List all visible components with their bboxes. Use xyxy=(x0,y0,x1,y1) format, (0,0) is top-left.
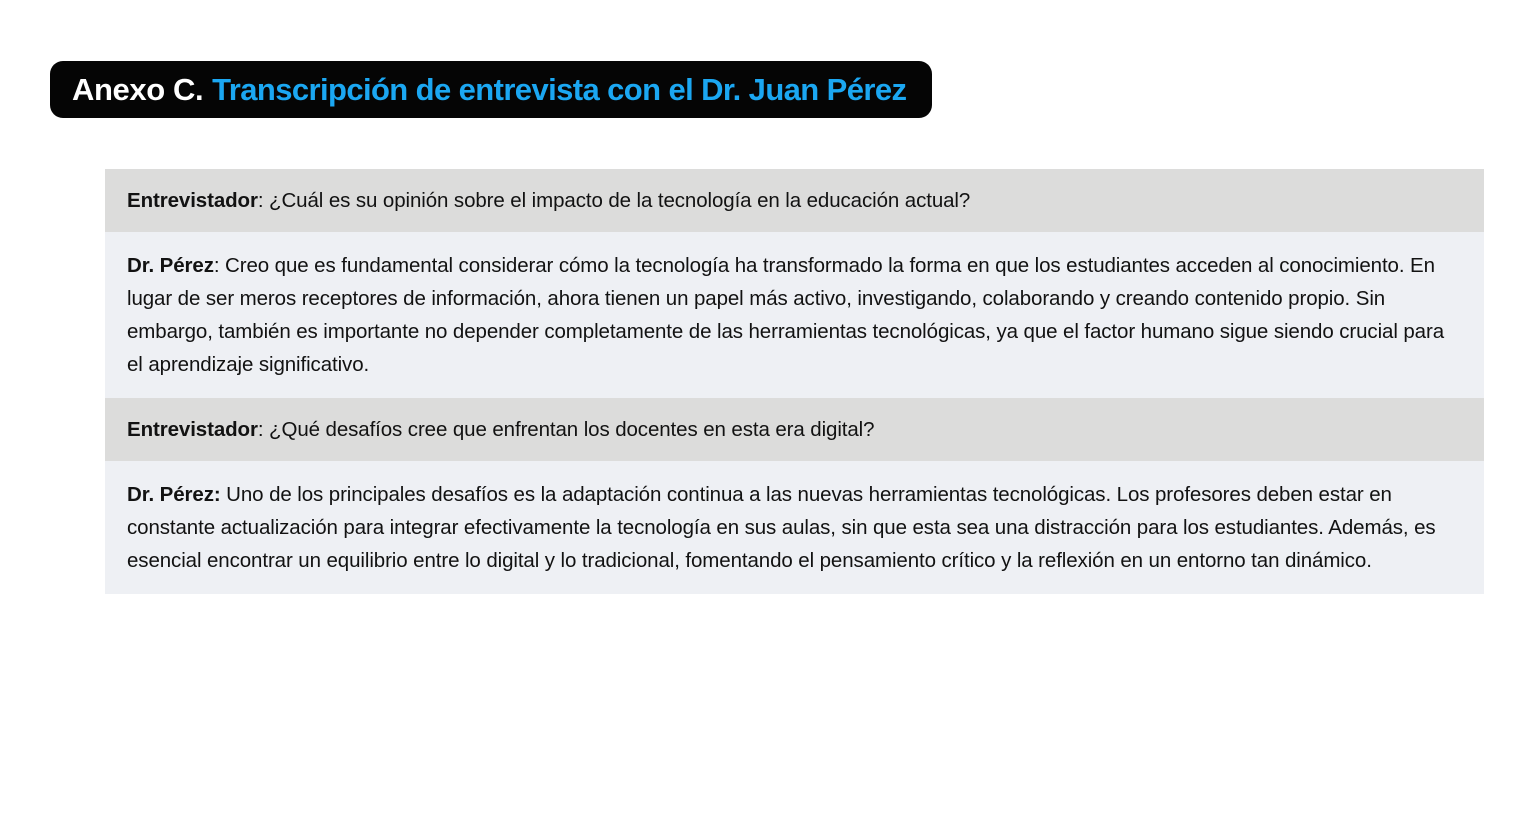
transcript-list: Entrevistador: ¿Cuál es su opinión sobre… xyxy=(105,169,1484,594)
turn-text: : ¿Qué desafíos cree que enfrentan los d… xyxy=(258,418,875,441)
speaker-label: Dr. Pérez xyxy=(127,254,214,277)
speaker-label: Entrevistador xyxy=(127,189,258,212)
document-page: Anexo C. Transcripción de entrevista con… xyxy=(0,0,1536,818)
transcript-turn-respondent: Dr. Pérez: Uno de los principales desafí… xyxy=(105,461,1484,594)
annex-label: Anexo C. xyxy=(72,74,203,105)
speaker-label: Dr. Pérez: xyxy=(127,483,221,506)
turn-text: : Creo que es fundamental considerar cóm… xyxy=(127,254,1444,376)
page-title-banner: Anexo C. Transcripción de entrevista con… xyxy=(50,61,932,118)
turn-text: : ¿Cuál es su opinión sobre el impacto d… xyxy=(258,189,970,212)
transcript-turn-respondent: Dr. Pérez: Creo que es fundamental consi… xyxy=(105,232,1484,398)
page-title: Transcripción de entrevista con el Dr. J… xyxy=(212,74,906,105)
transcript-turn-interviewer: Entrevistador: ¿Qué desafíos cree que en… xyxy=(105,398,1484,461)
turn-text: Uno de los principales desafíos es la ad… xyxy=(127,483,1436,572)
transcript-turn-interviewer: Entrevistador: ¿Cuál es su opinión sobre… xyxy=(105,169,1484,232)
speaker-label: Entrevistador xyxy=(127,418,258,441)
